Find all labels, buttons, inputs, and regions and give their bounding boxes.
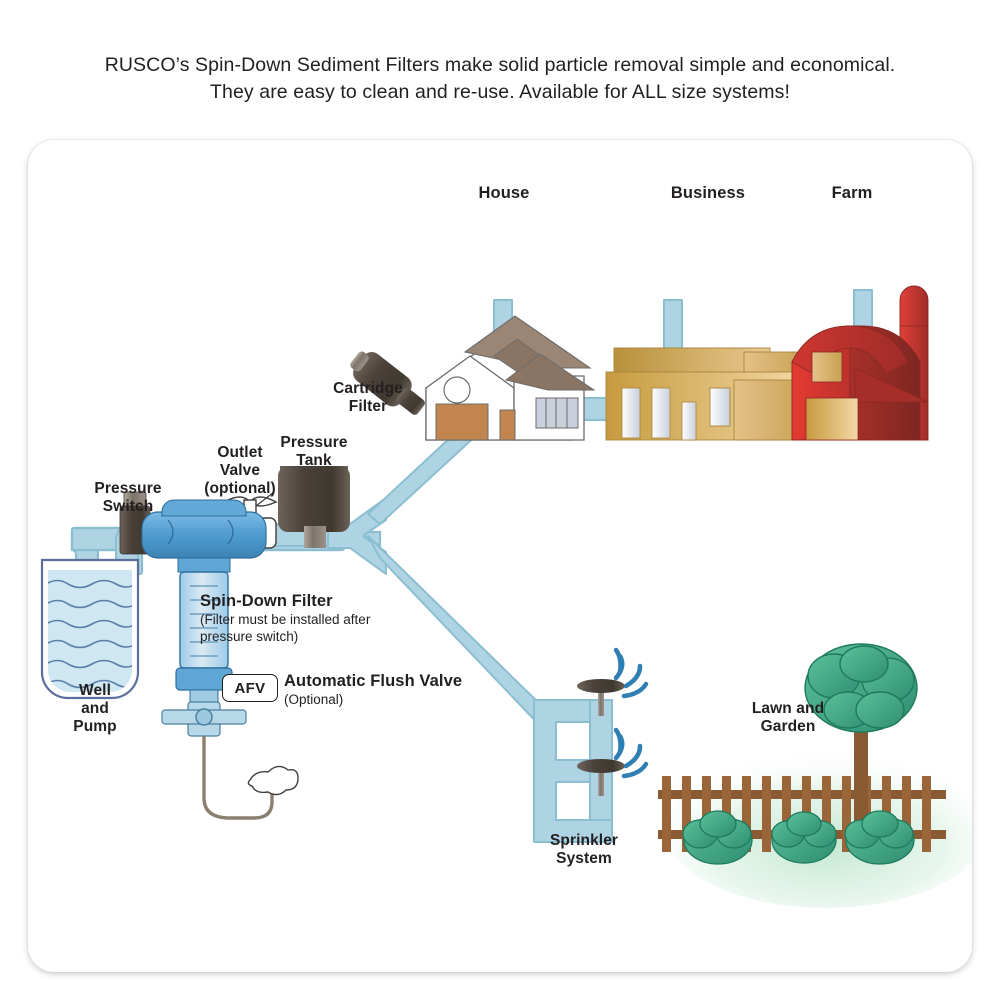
label-cartridge-filter: Cartridge Filter bbox=[316, 380, 420, 416]
label-lawn-and-garden: Lawn and Garden bbox=[718, 700, 858, 736]
label-well-and-pump: Well and Pump bbox=[48, 682, 142, 736]
label-pressure-tank: Pressure Tank bbox=[266, 434, 362, 470]
headline-line-2: They are easy to clean and re-use. Avail… bbox=[0, 79, 1000, 106]
diagram-card: House Business Farm Cartridge Filter Out… bbox=[28, 140, 972, 972]
business-illustration bbox=[606, 348, 808, 440]
system-diagram: House Business Farm Cartridge Filter Out… bbox=[28, 140, 972, 972]
house-illustration bbox=[426, 316, 594, 440]
label-house: House bbox=[458, 184, 550, 202]
headline-line-1: RUSCO’s Spin-Down Sediment Filters make … bbox=[0, 52, 1000, 79]
label-automatic-flush-valve: Automatic Flush Valve bbox=[284, 672, 520, 690]
bushes bbox=[683, 811, 914, 864]
afv-badge: AFV bbox=[222, 674, 278, 702]
label-spin-down-filter: Spin-Down Filter bbox=[200, 592, 460, 610]
label-business: Business bbox=[632, 184, 784, 202]
spin-down-filter-note: (Filter must be installed after pressure… bbox=[200, 612, 450, 645]
diagram-page: RUSCO’s Spin-Down Sediment Filters make … bbox=[0, 0, 1000, 1000]
label-farm: Farm bbox=[806, 184, 898, 202]
automatic-flush-valve-note: (Optional) bbox=[284, 692, 444, 709]
well-illustration bbox=[42, 560, 138, 698]
headline: RUSCO’s Spin-Down Sediment Filters make … bbox=[0, 52, 1000, 106]
label-pressure-switch: Pressure Switch bbox=[72, 480, 184, 516]
lawn-and-garden-illustration bbox=[658, 644, 972, 908]
label-sprinkler-system: Sprinkler System bbox=[530, 832, 638, 868]
